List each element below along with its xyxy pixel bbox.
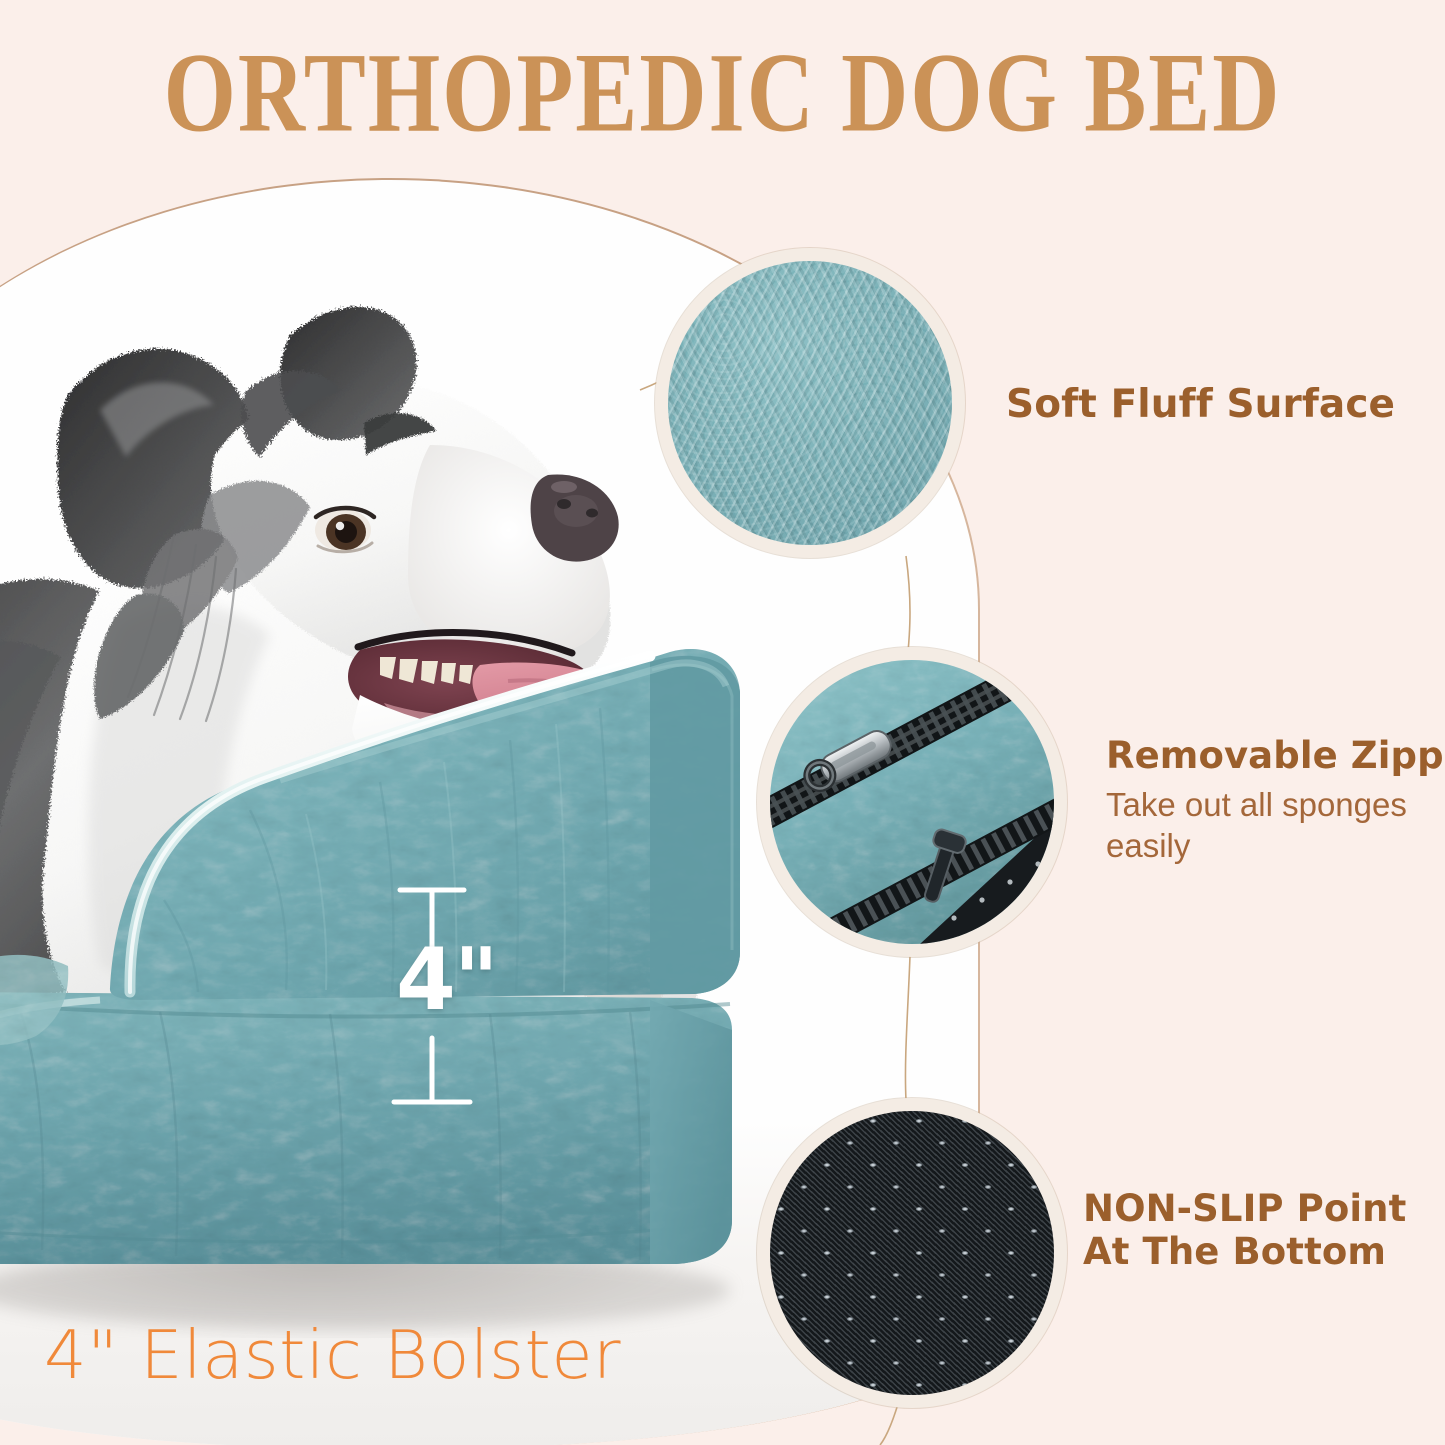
label-soft-fluff-surface: Soft Fluff Surface xyxy=(1006,382,1395,427)
callout-non-slip-bottom[interactable] xyxy=(757,1098,1067,1408)
swatch-non-slip xyxy=(770,1111,1054,1395)
label-heading-line1: NON-SLIP Point xyxy=(1083,1187,1406,1230)
label-subtext: Take out all sponges easily xyxy=(1106,784,1436,867)
infographic-canvas: ORTHOPEDIC DOG BED xyxy=(0,0,1445,1445)
swatch-soft-fluff xyxy=(668,261,952,545)
label-heading-line2: At The Bottom xyxy=(1083,1231,1423,1274)
label-heading: Soft Fluff Surface xyxy=(1006,382,1395,427)
callout-removable-zipper[interactable] xyxy=(757,647,1067,957)
callout-soft-fluff-surface[interactable] xyxy=(655,248,965,558)
label-heading: NON-SLIP Point At The Bottom xyxy=(1083,1188,1423,1274)
elastic-bolster-caption: 4" Elastic Bolster xyxy=(44,1316,621,1394)
label-non-slip-bottom: NON-SLIP Point At The Bottom xyxy=(1083,1188,1423,1274)
label-removable-zipper: Removable Zipper Take out all sponges ea… xyxy=(1106,735,1436,867)
label-heading: Removable Zipper xyxy=(1106,735,1436,778)
swatch-removable-zipper xyxy=(770,660,1054,944)
